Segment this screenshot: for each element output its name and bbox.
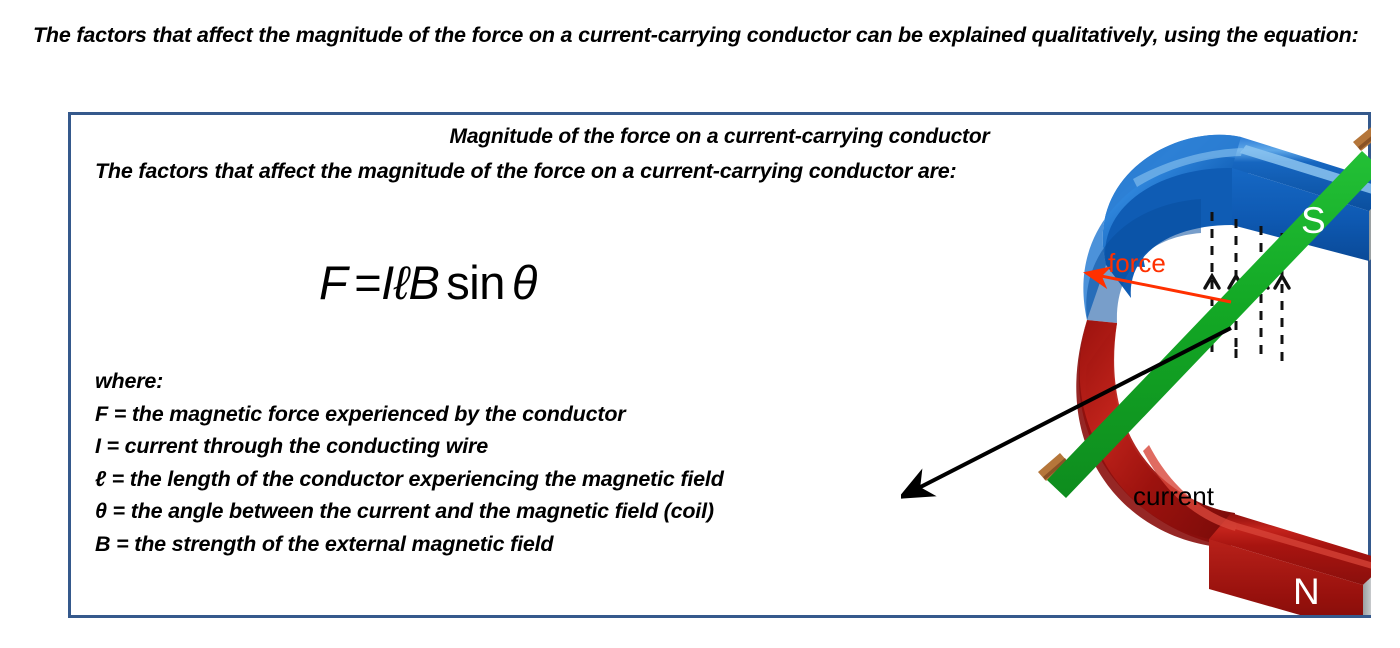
definition-I: I = current through the conducting wire [95,430,724,463]
equation-symbol-I: I [381,256,394,309]
south-pole-label: S [1301,200,1326,242]
current-label: current [1133,481,1214,512]
info-box: Magnitude of the force on a current-carr… [68,112,1371,618]
box-subtitle: The factors that affect the magnitude of… [95,159,956,184]
definition-B: B = the strength of the external magneti… [95,528,724,561]
equation-equals: = [354,256,381,309]
force-label: force [1108,248,1166,279]
force-equation: F=IℓBsinθ [319,255,537,310]
definitions-list: where: F = the magnetic force experience… [95,365,724,560]
equation-symbol-F: F [319,256,347,309]
equation-symbol-ell: ℓ [394,256,409,309]
equation-sin: sin [446,256,505,309]
horseshoe-magnet-diagram: S N force current [901,115,1371,615]
magnetic-field-lines-lower [1212,343,1236,361]
definition-theta: θ = the angle between the current and th… [95,495,724,528]
intro-paragraph: The factors that affect the magnitude of… [33,20,1383,51]
wire-copper-tip-top [1353,124,1371,151]
definition-ell: ℓ = the length of the conductor experien… [95,463,724,496]
north-pole-label: N [1293,571,1320,613]
magnet-north-arm [1076,320,1371,615]
definition-F: F = the magnetic force experienced by th… [95,398,724,431]
where-label: where: [95,365,724,398]
equation-symbol-theta: θ [512,256,537,309]
equation-symbol-B: B [408,256,439,309]
